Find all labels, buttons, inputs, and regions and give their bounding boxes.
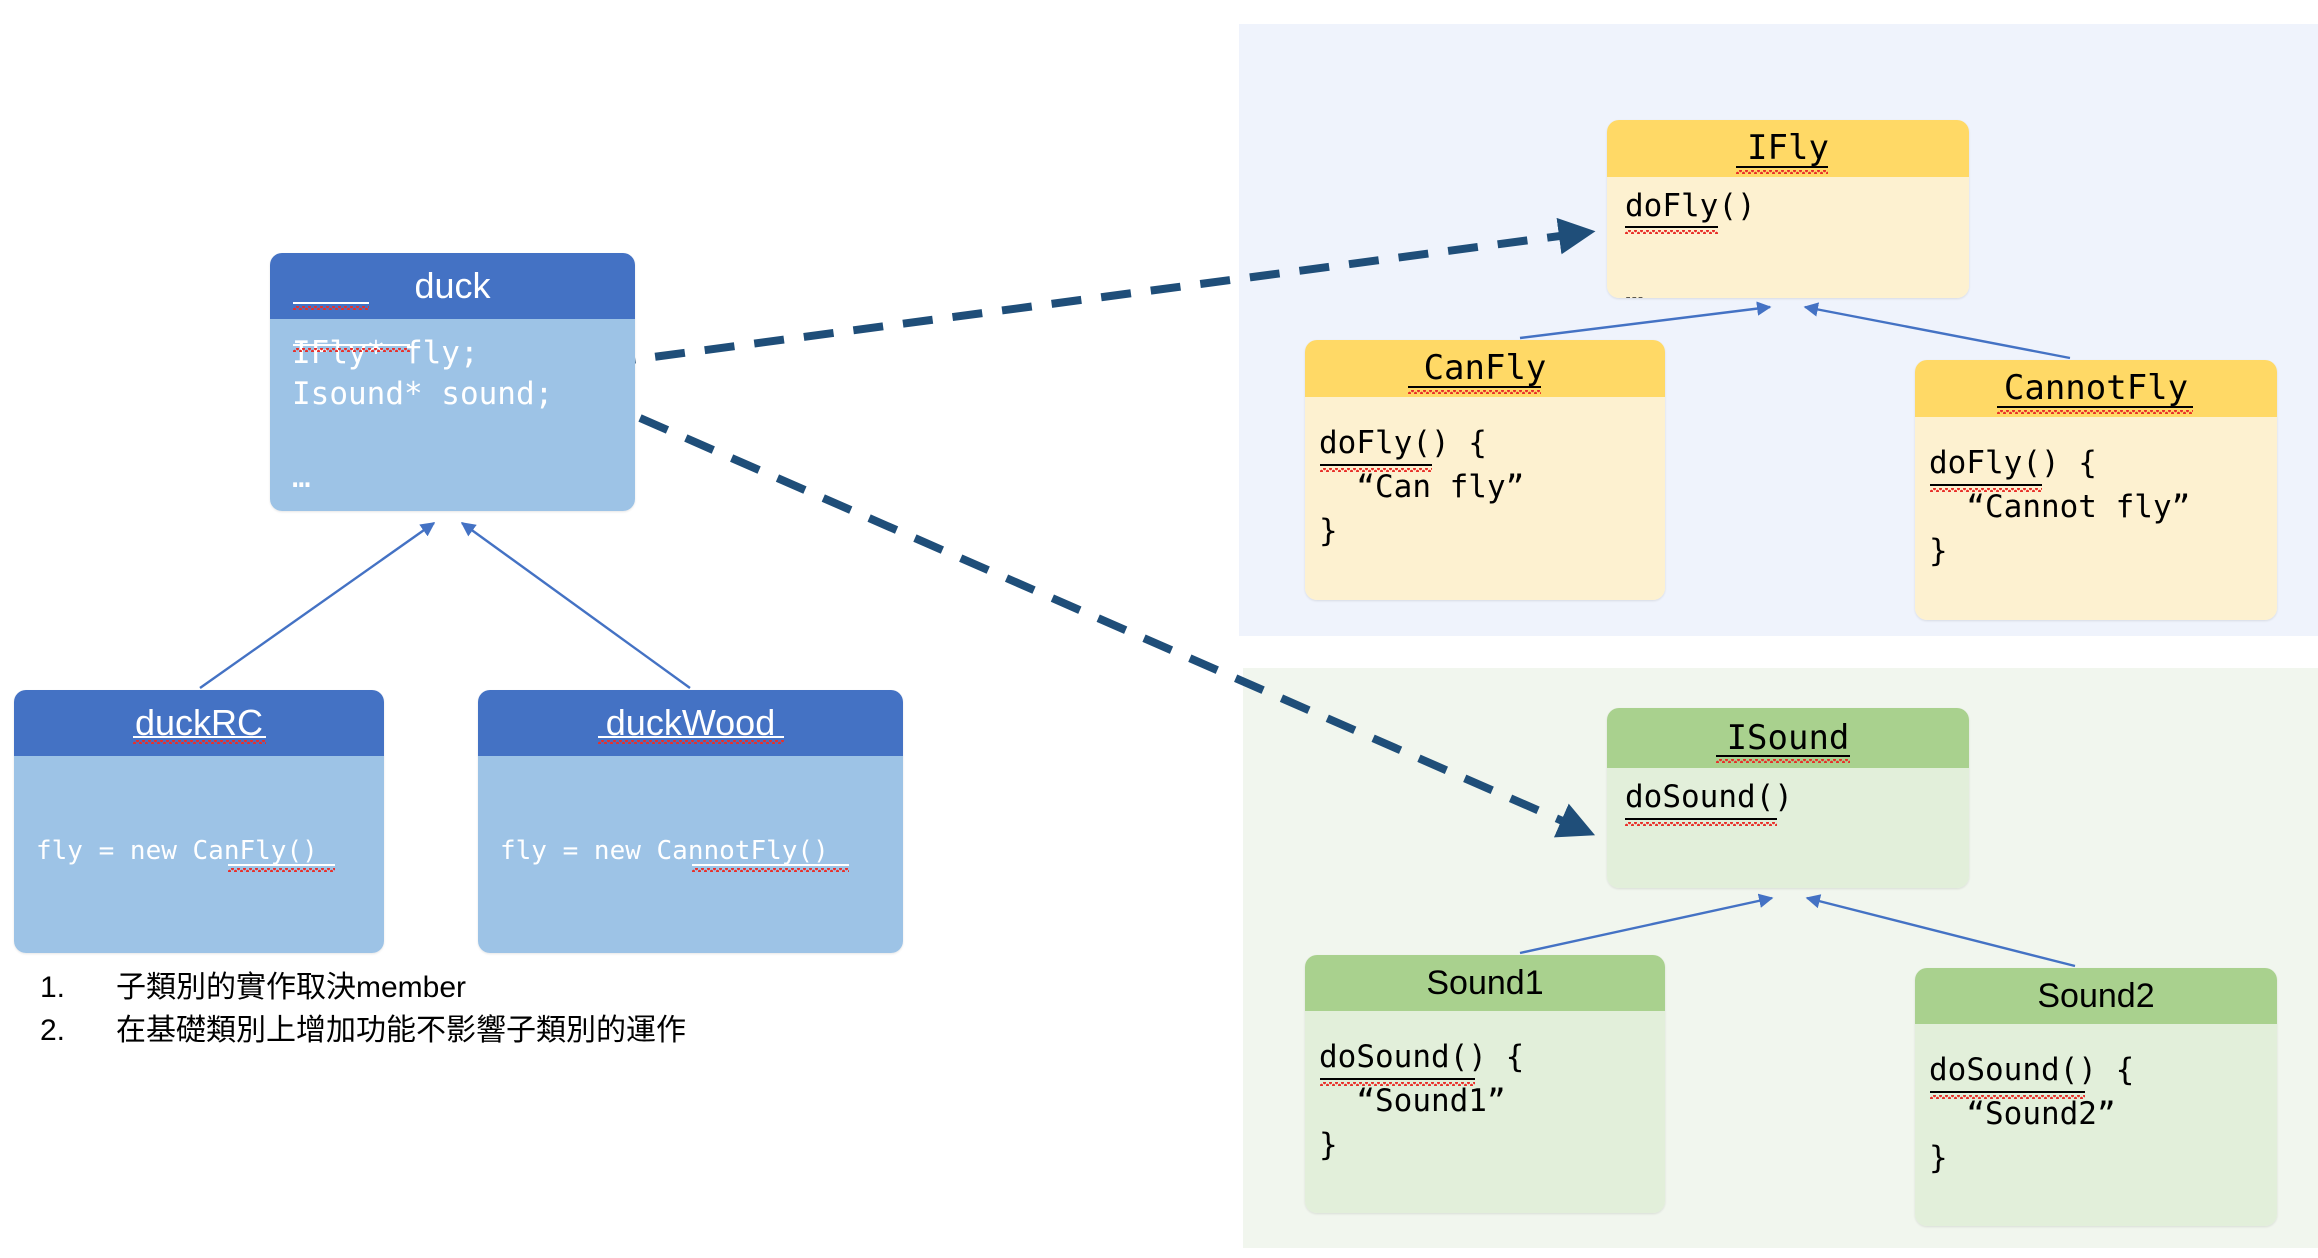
- connector-duckwood-to-duck: [462, 523, 690, 688]
- class-members-sound2: doSound() { “Sound2” }: [1915, 1024, 2277, 1226]
- note-text-2: 在基礎類別上增加功能不影響子類別的運作: [116, 1010, 890, 1053]
- notes-list: 1. 子類別的實作取決member 2. 在基礎類別上增加功能不影響子類別的運作: [40, 967, 890, 1052]
- class-title-sound1: Sound1: [1305, 955, 1665, 1011]
- class-members-sound1: doSound() { “Sound1” }: [1305, 1011, 1665, 1213]
- class-title-duckrc: duckRC: [14, 690, 384, 756]
- class-members-cannotfly: doFly() { “Cannot fly” }: [1915, 417, 2277, 620]
- connector-duckrc-to-duck: [200, 523, 434, 688]
- class-box-cannotfly[interactable]: CannotFly doFly() { “Cannot fly” }: [1915, 360, 2277, 620]
- class-title-duckwood: duckWood: [478, 690, 903, 756]
- class-box-isound[interactable]: ISound doSound() …: [1607, 708, 1969, 888]
- note-number-2: 2.: [40, 1010, 116, 1053]
- class-title-sound2: Sound2: [1915, 968, 2277, 1024]
- class-members-duckrc: fly = new CanFly(): [14, 756, 384, 953]
- class-box-duckrc[interactable]: duckRC fly = new CanFly(): [14, 690, 384, 953]
- class-title-isound: ISound: [1607, 708, 1969, 768]
- class-box-duck[interactable]: duck IFly* fly; Isound* sound; …: [270, 253, 635, 511]
- class-box-duckwood[interactable]: duckWood fly = new CannotFly(): [478, 690, 903, 953]
- class-members-duck: IFly* fly; Isound* sound; …: [270, 319, 635, 511]
- class-box-sound2[interactable]: Sound2 doSound() { “Sound2” }: [1915, 968, 2277, 1226]
- class-box-ifly[interactable]: IFly doFly() …: [1607, 120, 1969, 298]
- class-members-ifly: doFly() …: [1607, 177, 1969, 298]
- class-members-isound: doSound() …: [1607, 768, 1969, 888]
- note-number-1: 1.: [40, 967, 116, 1010]
- class-title-canfly: CanFly: [1305, 340, 1665, 397]
- diagram-canvas: duck IFly* fly; Isound* sound; … duckRC …: [0, 0, 2318, 1258]
- class-box-canfly[interactable]: CanFly doFly() { “Can fly” }: [1305, 340, 1665, 600]
- note-item-2: 2. 在基礎類別上增加功能不影響子類別的運作: [40, 1010, 890, 1053]
- note-text-1: 子類別的實作取決member: [116, 967, 890, 1010]
- note-item-1: 1. 子類別的實作取決member: [40, 967, 890, 1010]
- class-members-canfly: doFly() { “Can fly” }: [1305, 397, 1665, 600]
- class-members-duckwood: fly = new CannotFly(): [478, 756, 903, 953]
- class-title-cannotfly: CannotFly: [1915, 360, 2277, 417]
- class-title-ifly: IFly: [1607, 120, 1969, 177]
- class-box-sound1[interactable]: Sound1 doSound() { “Sound1” }: [1305, 955, 1665, 1213]
- class-title-duck: duck: [270, 253, 635, 319]
